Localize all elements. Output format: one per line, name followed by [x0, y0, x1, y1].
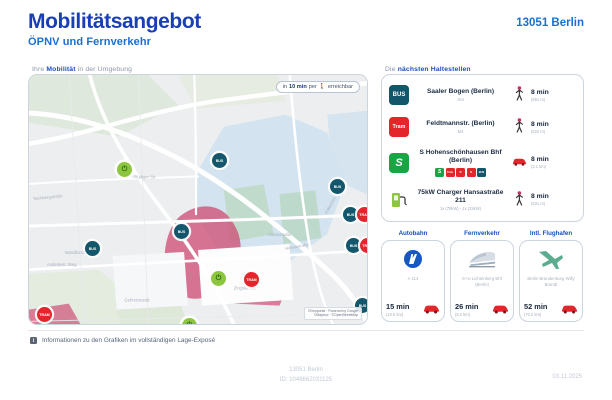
map-pin-ev[interactable]: ⏻: [182, 318, 197, 325]
pin-tram-icon: TRAM: [360, 238, 368, 253]
travel-distance: (651 m): [531, 97, 549, 102]
stop-name: Feldtmannstr. (Berlin): [412, 120, 509, 128]
connection-card-intl-flughafen: Intl. FlughafenBerlin Brandenburg Willy …: [519, 230, 583, 322]
card-caption: Intl. Flughafen: [519, 230, 583, 237]
footer-note-text: Informationen zu den Grafiken im vollstä…: [42, 337, 215, 344]
map-pin-tram[interactable]: TRAM: [360, 238, 368, 253]
card-destination-label: Berlin Brandenburg Willy Brandt: [524, 276, 578, 288]
connection-card-fernverkehr: FernverkehrS+U Lichtenberg Bhf (Berlin)2…: [450, 230, 514, 322]
pin-bus-icon: BUS: [346, 238, 361, 253]
map-pin-bus[interactable]: BUS: [330, 179, 345, 194]
svg-text:Hansastraße: Hansastraße: [268, 232, 292, 237]
pin-ev-icon: ⏻: [211, 271, 226, 286]
map-attribution: ©Geoportal · Powered by Google ©Mapbox ·…: [304, 307, 362, 320]
map-caption-bold: Mobilität: [46, 66, 75, 73]
card-footer: 15 min(10.5 km): [386, 302, 440, 317]
map-pin-ev[interactable]: ⏻: [211, 271, 226, 286]
pedestrian-icon: [512, 86, 527, 104]
car-icon: [512, 156, 527, 169]
pin-tram-icon: TRAM: [357, 207, 368, 222]
pin-bus-icon: BUS: [212, 153, 227, 168]
mode-badge-bus: BUS: [389, 85, 409, 105]
map-caption-pre: Ihre: [32, 66, 46, 73]
map-pin-bus[interactable]: BUS: [346, 238, 361, 253]
pin-tram-icon: TRAM: [37, 307, 52, 322]
stop-lines-label: 154: [412, 97, 509, 102]
pin-bus-icon: BUS: [85, 241, 100, 256]
card-body[interactable]: S+U Lichtenberg Bhf (Berlin)26 min(8.2 k…: [450, 240, 514, 322]
card-body[interactable]: Berlin Brandenburg Willy Brandt52 min(70…: [519, 240, 583, 322]
card-time-block: 52 min(70.2 km): [524, 302, 547, 317]
card-duration: 26 min: [455, 302, 478, 311]
travel-distance: (622 m): [531, 129, 549, 134]
card-destination-label: S+U Lichtenberg Bhf (Berlin): [455, 276, 509, 288]
travel-distance: (2.1 km): [531, 164, 549, 169]
connection-cards: AutobahnA 11415 min(10.5 km)FernverkehrS…: [381, 230, 583, 322]
card-distance: (8.2 km): [455, 312, 478, 317]
pin-bus-icon: BUS: [330, 179, 345, 194]
card-destination-label: A 114: [408, 276, 419, 288]
line-badge-s: S: [435, 168, 444, 177]
stop-info: Feldtmannstr. (Berlin)M4: [409, 120, 512, 134]
page-subtitle: ÖPNV und Fernverkehr: [28, 36, 201, 48]
postal-code-label: 13051 Berlin: [516, 17, 584, 29]
card-time-block: 15 min(10.5 km): [386, 302, 409, 317]
travel-distance: (631 m): [531, 201, 549, 206]
line-badge-bus: BUS: [477, 168, 486, 177]
stop-row[interactable]: TramFeldtmannstr. (Berlin)M48 min(622 m): [389, 117, 576, 137]
map-pin-bus[interactable]: BUS: [174, 224, 189, 239]
pin-ev-icon: ⏻: [117, 162, 132, 177]
map-pin-bus[interactable]: BUS: [85, 241, 100, 256]
pin-tram-icon: TRAM: [244, 272, 259, 287]
map-canvas: Teichbergstraße Rüdiger Str. Anderlestr.…: [29, 75, 367, 325]
card-caption: Fernverkehr: [450, 230, 514, 237]
attribution-line-2: ©Mapbox · ©OpenStreetMap: [308, 313, 358, 318]
car-icon: [492, 303, 509, 317]
stop-info: 75kW Charger Hansastraße 2111x (75kW) - …: [409, 189, 512, 211]
svg-text:Rüdiger Str.: Rüdiger Str.: [134, 174, 156, 179]
ev-charger-icon: ⏻: [216, 275, 222, 283]
pedestrian-icon: 🚶: [319, 84, 326, 90]
mode-badge-tram: Tram: [389, 117, 409, 137]
pin-bus-icon: BUS: [343, 207, 358, 222]
stops-caption: Die nächsten Haltestellen: [385, 66, 471, 73]
footer-id: ID: 1048662031125: [0, 376, 612, 386]
nearest-stops-panel: BUSSaaler Bogen (Berlin)1548 min(651 m)T…: [381, 74, 584, 222]
travel-duration: 8 min: [531, 156, 549, 163]
stop-row[interactable]: BUSSaaler Bogen (Berlin)1548 min(651 m): [389, 85, 576, 105]
travel-time-block: 8 min(651 m): [531, 89, 549, 102]
badge-text-bold: 10 min: [289, 84, 307, 90]
card-icon-wrap: [467, 246, 497, 272]
stop-name: Saaler Bogen (Berlin): [412, 88, 509, 96]
car-icon: [561, 303, 578, 317]
card-time-block: 26 min(8.2 km): [455, 302, 478, 317]
footer-divider: [28, 330, 584, 331]
card-icon-wrap: [537, 246, 565, 272]
ev-charger-icon: ⏻: [122, 166, 128, 174]
pin-bus-icon: BUS: [174, 224, 189, 239]
stop-lines-label: M4: [412, 129, 509, 134]
card-distance: (70.2 km): [524, 312, 547, 317]
stop-info: S Hohenschönhausen Bhf (Berlin)STramRRBU…: [409, 149, 512, 176]
stop-name: S Hohenschönhausen Bhf (Berlin): [412, 149, 509, 165]
stop-row[interactable]: 75kW Charger Hansastraße 2111x (75kW) - …: [389, 189, 576, 211]
stop-info: Saaler Bogen (Berlin)154: [409, 88, 512, 102]
airplane-icon: [537, 248, 565, 270]
travel-duration: 8 min: [531, 89, 549, 96]
mobility-map[interactable]: Teichbergstraße Rüdiger Str. Anderlestr.…: [28, 74, 368, 325]
stop-travel-time: 8 min(631 m): [512, 191, 576, 209]
stop-travel-time: 8 min(2.1 km): [512, 156, 576, 169]
badge-text-post: erreichbar: [328, 84, 353, 90]
travel-time-block: 8 min(631 m): [531, 193, 549, 206]
card-icon-wrap: [404, 246, 422, 272]
footer-note: i Informationen zu den Grafiken im volls…: [30, 337, 215, 344]
stop-travel-time: 8 min(622 m): [512, 118, 576, 136]
map-pin-bus[interactable]: BUS: [212, 153, 227, 168]
pedestrian-icon: [512, 191, 527, 209]
footer-center: 13051 Berlin ID: 1048662031125: [0, 366, 612, 385]
svg-text:Gehrenseestr.: Gehrenseestr.: [124, 298, 150, 303]
map-pin-tram[interactable]: TRAM: [244, 272, 259, 287]
travel-time-block: 8 min(622 m): [531, 121, 549, 134]
travel-time-block: 8 min(2.1 km): [531, 156, 549, 169]
travel-duration: 8 min: [531, 121, 549, 128]
map-pin-tram[interactable]: TRAM: [357, 207, 368, 222]
card-duration: 52 min: [524, 302, 547, 311]
stops-caption-bold: nächsten Haltestellen: [398, 66, 471, 73]
map-pin-ev[interactable]: ⏻: [117, 162, 132, 177]
footer-location: 13051 Berlin: [0, 366, 612, 376]
ev-charger-icon: ⏻: [187, 322, 193, 326]
mode-badge-s: S: [389, 153, 409, 173]
card-footer: 26 min(8.2 km): [455, 302, 509, 317]
stop-lines-label: 1x (75kW) - 1x (22kW): [412, 206, 509, 211]
autobahn-sign-icon: [404, 250, 422, 268]
car-icon: [423, 303, 440, 317]
travel-duration: 8 min: [531, 193, 549, 200]
badge-text-pre: in: [283, 84, 287, 90]
card-distance: (10.5 km): [386, 312, 409, 317]
stop-line-badges: STramRRBUS: [412, 168, 509, 177]
stop-travel-time: 8 min(651 m): [512, 86, 576, 104]
card-body[interactable]: A 11415 min(10.5 km): [381, 240, 445, 322]
mobility-report-page: Mobilitätsangebot ÖPNV und Fernverkehr 1…: [0, 0, 612, 400]
line-badge-r: R: [467, 168, 476, 177]
line-badge-tram: Tram: [446, 168, 455, 177]
page-title: Mobilitätsangebot: [28, 10, 201, 33]
card-caption: Autobahn: [381, 230, 445, 237]
stops-caption-pre: Die: [385, 66, 398, 73]
map-caption-post: in der Umgebung: [76, 66, 132, 73]
map-isochrone-badge: in 10 min per 🚶 erreichbar: [276, 81, 360, 93]
ev-charger-icon: [390, 191, 408, 209]
mode-badge-ev: [389, 190, 409, 210]
badge-text-mid: per: [309, 84, 317, 90]
page-header: Mobilitätsangebot ÖPNV und Fernverkehr: [28, 10, 201, 48]
pedestrian-icon: [512, 118, 527, 136]
map-pin-bus[interactable]: BUS: [343, 207, 358, 222]
svg-text:Anderlestr. Weg: Anderlestr. Weg: [47, 262, 77, 267]
line-badge-r: R: [456, 168, 465, 177]
connection-card-autobahn: AutobahnA 11415 min(10.5 km): [381, 230, 445, 322]
card-duration: 15 min: [386, 302, 409, 311]
map-pin-tram[interactable]: TRAM: [37, 307, 52, 322]
stop-row[interactable]: SS Hohenschönhausen Bhf (Berlin)STramRRB…: [389, 149, 576, 176]
pin-ev-icon: ⏻: [182, 318, 197, 325]
train-icon: [467, 249, 497, 269]
stop-name: 75kW Charger Hansastraße 211: [412, 189, 509, 205]
info-icon: i: [30, 337, 37, 344]
map-caption: Ihre Mobilität in der Umgebung: [32, 66, 132, 73]
footer-date: 03.11.2025: [552, 374, 582, 380]
card-footer: 52 min(70.2 km): [524, 302, 578, 317]
